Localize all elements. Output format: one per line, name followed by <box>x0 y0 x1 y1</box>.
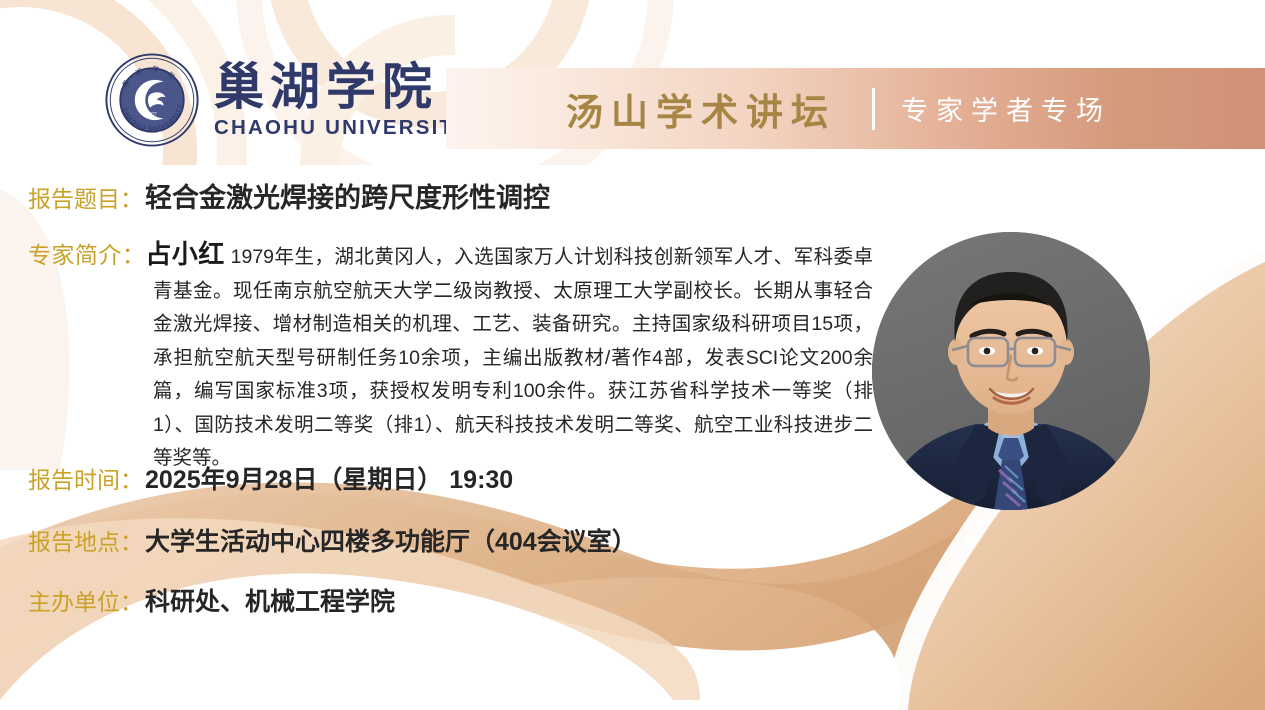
speaker-bio-text: 1979年生，湖北黄冈人，入选国家万人计划科技创新领军人才、军科委卓青基金。现任… <box>153 246 873 469</box>
forum-banner: 汤山学术讲坛 专家学者专场 <box>446 68 1265 149</box>
speaker-bio-paragraph: 专家简介：占小红 1979年生，湖北黄冈人，入选国家万人计划科技创新领军人才、军… <box>28 238 873 476</box>
speaker-portrait-illustration <box>872 232 1150 510</box>
lecture-time-value: 2025年9月28日（星期日） 19:30 <box>145 460 513 496</box>
forum-banner-subtitle: 专家学者专场 <box>901 89 1111 128</box>
lecture-time-row: 报告时间： 2025年9月28日（星期日） 19:30 <box>28 460 513 496</box>
lecture-time-label: 报告时间： <box>28 461 143 495</box>
university-name-cn: 巢湖学院 <box>214 61 470 114</box>
lecture-title-label: 报告题目： <box>28 180 143 214</box>
lecture-host-row: 主办单位： 科研处、机械工程学院 <box>28 582 395 618</box>
speaker-name: 占小红 <box>145 239 224 269</box>
speaker-portrait <box>872 232 1150 510</box>
university-seal-icon: 1977 巢 湖 学 院 CHAOHU UNIVERSITY <box>104 52 200 148</box>
lecture-host-label: 主办单位： <box>28 583 143 617</box>
speaker-bio-row: 专家简介：占小红 1979年生，湖北黄冈人，入选国家万人计划科技创新领军人才、军… <box>28 238 873 476</box>
lecture-place-label: 报告地点： <box>28 523 143 557</box>
university-name-en: CHAOHU UNIVERSITY <box>214 116 470 141</box>
banner-divider <box>872 88 875 130</box>
forum-banner-title: 汤山学术讲坛 <box>566 82 836 136</box>
university-logo-block: 1977 巢 湖 学 院 CHAOHU UNIVERSITY 巢湖学院 CHAO… <box>104 52 470 148</box>
svg-text:1977: 1977 <box>147 112 157 117</box>
lecture-place-row: 报告地点： 大学生活动中心四楼多功能厅（404会议室） <box>28 522 637 558</box>
lecture-host-value: 科研处、机械工程学院 <box>145 582 395 618</box>
poster-header: 1977 巢 湖 学 院 CHAOHU UNIVERSITY 巢湖学院 CHAO… <box>0 0 1265 160</box>
lecture-title-value: 轻合金激光焊接的跨尺度形性调控 <box>145 176 550 215</box>
poster-canvas: 1977 巢 湖 学 院 CHAOHU UNIVERSITY 巢湖学院 CHAO… <box>0 0 1265 710</box>
lecture-place-value: 大学生活动中心四楼多功能厅（404会议室） <box>145 522 637 558</box>
lecture-title-row: 报告题目： 轻合金激光焊接的跨尺度形性调控 <box>28 176 550 215</box>
speaker-bio-label: 专家简介： <box>28 242 145 268</box>
